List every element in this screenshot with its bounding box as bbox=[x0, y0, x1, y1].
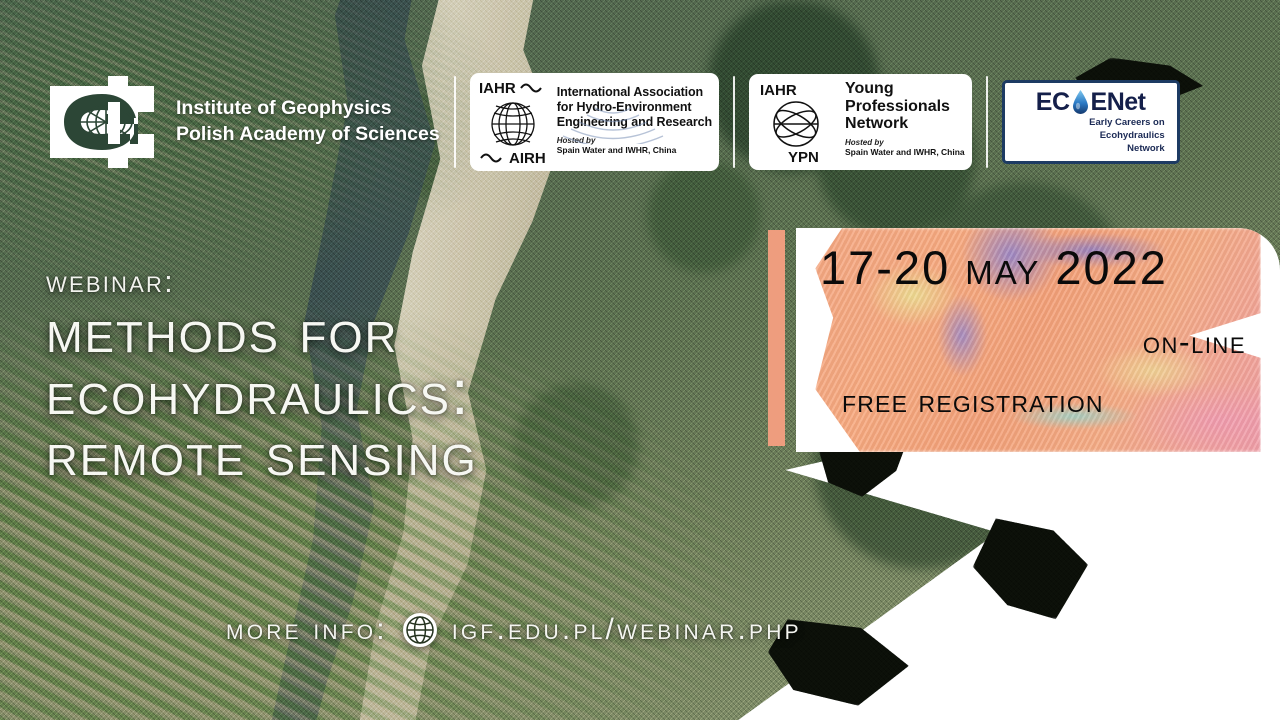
ecoenet-sub-line-2: Ecohydraulics bbox=[1017, 129, 1165, 142]
event-details-panel: 17-20 May 2022 On-line Free Registration bbox=[768, 228, 1280, 452]
kicker-label: Webinar: bbox=[46, 266, 478, 297]
ecoenet-mark-right: ENet bbox=[1091, 90, 1146, 115]
logo-divider bbox=[733, 76, 735, 168]
ecoenet-logo-card: EC ENet bbox=[1002, 80, 1180, 164]
organizer-logo: Institute of Geophysics Polish Academy o… bbox=[46, 72, 440, 172]
svg-text:YPN: YPN bbox=[788, 149, 819, 164]
event-format: On-line bbox=[1143, 324, 1246, 361]
title-line-3: Remote Sensing bbox=[46, 424, 478, 486]
event-dates: 17-20 May 2022 bbox=[820, 244, 1168, 291]
ypn-hosted-label: Hosted by bbox=[845, 138, 965, 147]
organizer-line-1: Institute of Geophysics bbox=[176, 96, 440, 122]
logo-bar: Institute of Geophysics Polish Academy o… bbox=[46, 72, 1180, 172]
globe-icon bbox=[402, 612, 438, 648]
title-line-2: Ecohydraulics: bbox=[46, 363, 478, 425]
logo-divider bbox=[986, 76, 988, 168]
page-title: Methods for Ecohydraulics: Remote Sensin… bbox=[46, 301, 478, 486]
footer: More info: igf.edu.pl/webinar.php bbox=[226, 612, 802, 648]
iahr-globe-icon: IAHR AIRH bbox=[477, 79, 549, 165]
svg-text:IAHR: IAHR bbox=[479, 80, 516, 97]
event-details-card: 17-20 May 2022 On-line Free Registration bbox=[796, 228, 1280, 452]
igf-pas-logo-icon bbox=[46, 72, 158, 172]
webinar-url[interactable]: igf.edu.pl/webinar.php bbox=[452, 613, 802, 647]
registration-info: Free Registration bbox=[842, 382, 1104, 420]
ypn-title-line-3: Network bbox=[845, 115, 965, 133]
accent-bar bbox=[768, 230, 785, 446]
organizer-line-2: Polish Academy of Sciences bbox=[176, 122, 440, 148]
organizer-name: Institute of Geophysics Polish Academy o… bbox=[176, 96, 440, 147]
water-drop-icon bbox=[1072, 90, 1089, 114]
iahr-hosted-by: Spain Water and IWHR, China bbox=[557, 145, 712, 155]
logo-divider bbox=[454, 76, 456, 168]
title-line-1: Methods for bbox=[46, 301, 478, 363]
ypn-title-line-1: Young bbox=[845, 80, 965, 98]
iahr-title-line-1: International Association bbox=[557, 85, 712, 100]
ecoenet-sub-line-1: Early Careers on bbox=[1017, 116, 1165, 129]
ypn-title-line-2: Professionals bbox=[845, 98, 965, 116]
title-block: Webinar: Methods for Ecohydraulics: Remo… bbox=[46, 266, 478, 486]
ypn-logo-card: IAHR YPN Young Professionals bbox=[749, 74, 972, 170]
more-info-label: More info: bbox=[226, 613, 388, 647]
ypn-globe-icon: IAHR YPN bbox=[756, 80, 836, 164]
ypn-hosted-by: Spain Water and IWHR, China bbox=[845, 147, 965, 157]
ecoenet-sub-line-3: Network bbox=[1017, 142, 1165, 155]
ecoenet-mark-left: EC bbox=[1036, 90, 1070, 115]
svg-text:AIRH: AIRH bbox=[509, 150, 546, 165]
ripple-icon bbox=[553, 104, 673, 144]
webinar-poster: Institute of Geophysics Polish Academy o… bbox=[0, 0, 1280, 720]
svg-text:IAHR: IAHR bbox=[760, 82, 797, 99]
